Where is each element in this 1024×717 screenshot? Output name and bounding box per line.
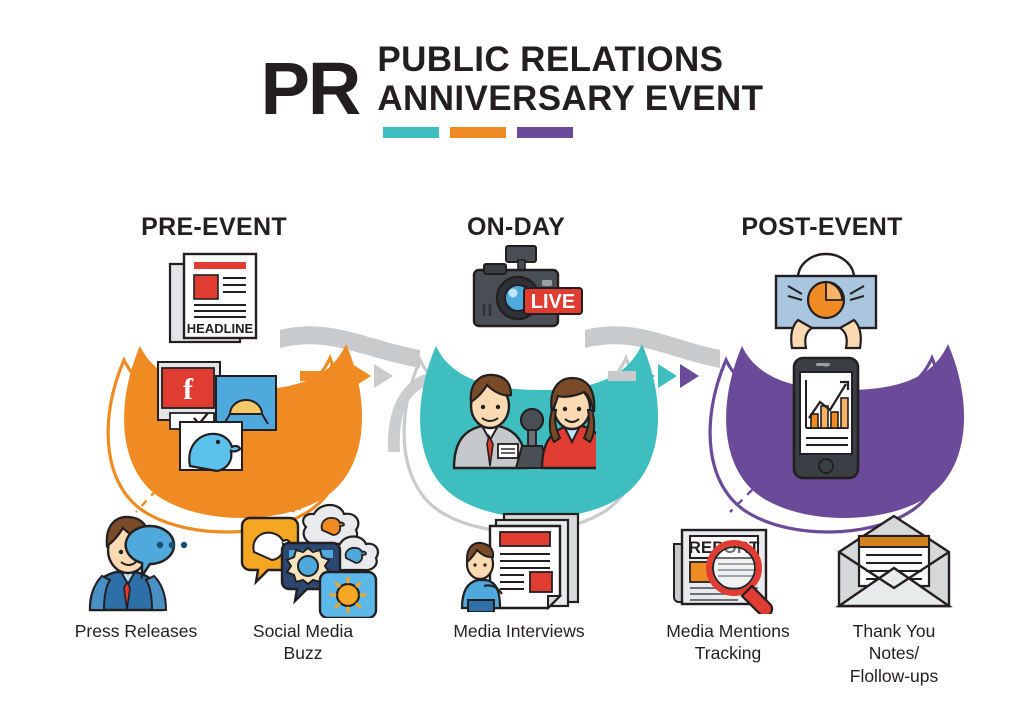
caption-press-releases: Press Releases [75, 620, 198, 642]
caption-thank-you-notes: Thank You Notes/ Flollow-ups [829, 620, 959, 687]
accent-rule-purple [517, 127, 573, 138]
caption-media-interviews: Media Interviews [453, 620, 584, 642]
pr-monogram: PR [261, 55, 360, 123]
social-chat-bubbles-icon [236, 496, 384, 623]
caption-media-mentions-tracking: Media Mentions Tracking [666, 620, 790, 665]
newspaper-magnifier-icon: REPORT [668, 510, 790, 619]
spokesperson-speech-bubble-icon [76, 512, 200, 617]
newspaper-headline-icon: HEADLINE [166, 250, 270, 355]
open-envelope-letter-icon [833, 512, 955, 615]
report-handoff-icon [762, 248, 892, 361]
title-row: PR PUBLIC RELATIONS ANNIVERSARY EVENT [0, 40, 1024, 138]
page-title-line1: PUBLIC RELATIONS [377, 40, 763, 79]
title-block: PUBLIC RELATIONS ANNIVERSARY EVENT [377, 40, 763, 138]
infographic-canvas: PR PUBLIC RELATIONS ANNIVERSARY EVENT PR… [0, 0, 1024, 717]
accent-rule-orange [450, 127, 506, 138]
accent-rule-teal [383, 127, 439, 138]
social-media-screens-icon: f [150, 358, 285, 483]
accent-rule-group [383, 127, 763, 138]
svg-text:f: f [183, 373, 194, 406]
header: PR PUBLIC RELATIONS ANNIVERSARY EVENT [0, 40, 1024, 138]
stage-heading-post-event: POST-EVENT [741, 213, 902, 242]
live-badge-label: LIVE [531, 291, 575, 313]
page-title-line2: ANNIVERSARY EVENT [377, 79, 763, 118]
headline-label: HEADLINE [187, 321, 254, 336]
smartphone-analytics-icon [782, 356, 872, 487]
stage-heading-on-day: ON-DAY [467, 213, 565, 242]
reporter-interview-icon [446, 362, 596, 477]
caption-social-media-buzz: Social Media Buzz [253, 620, 353, 665]
stage-heading-pre-event: PRE-EVENT [141, 213, 287, 242]
presenter-documents-icon [458, 508, 586, 617]
camera-live-icon: LIVE [460, 244, 586, 353]
